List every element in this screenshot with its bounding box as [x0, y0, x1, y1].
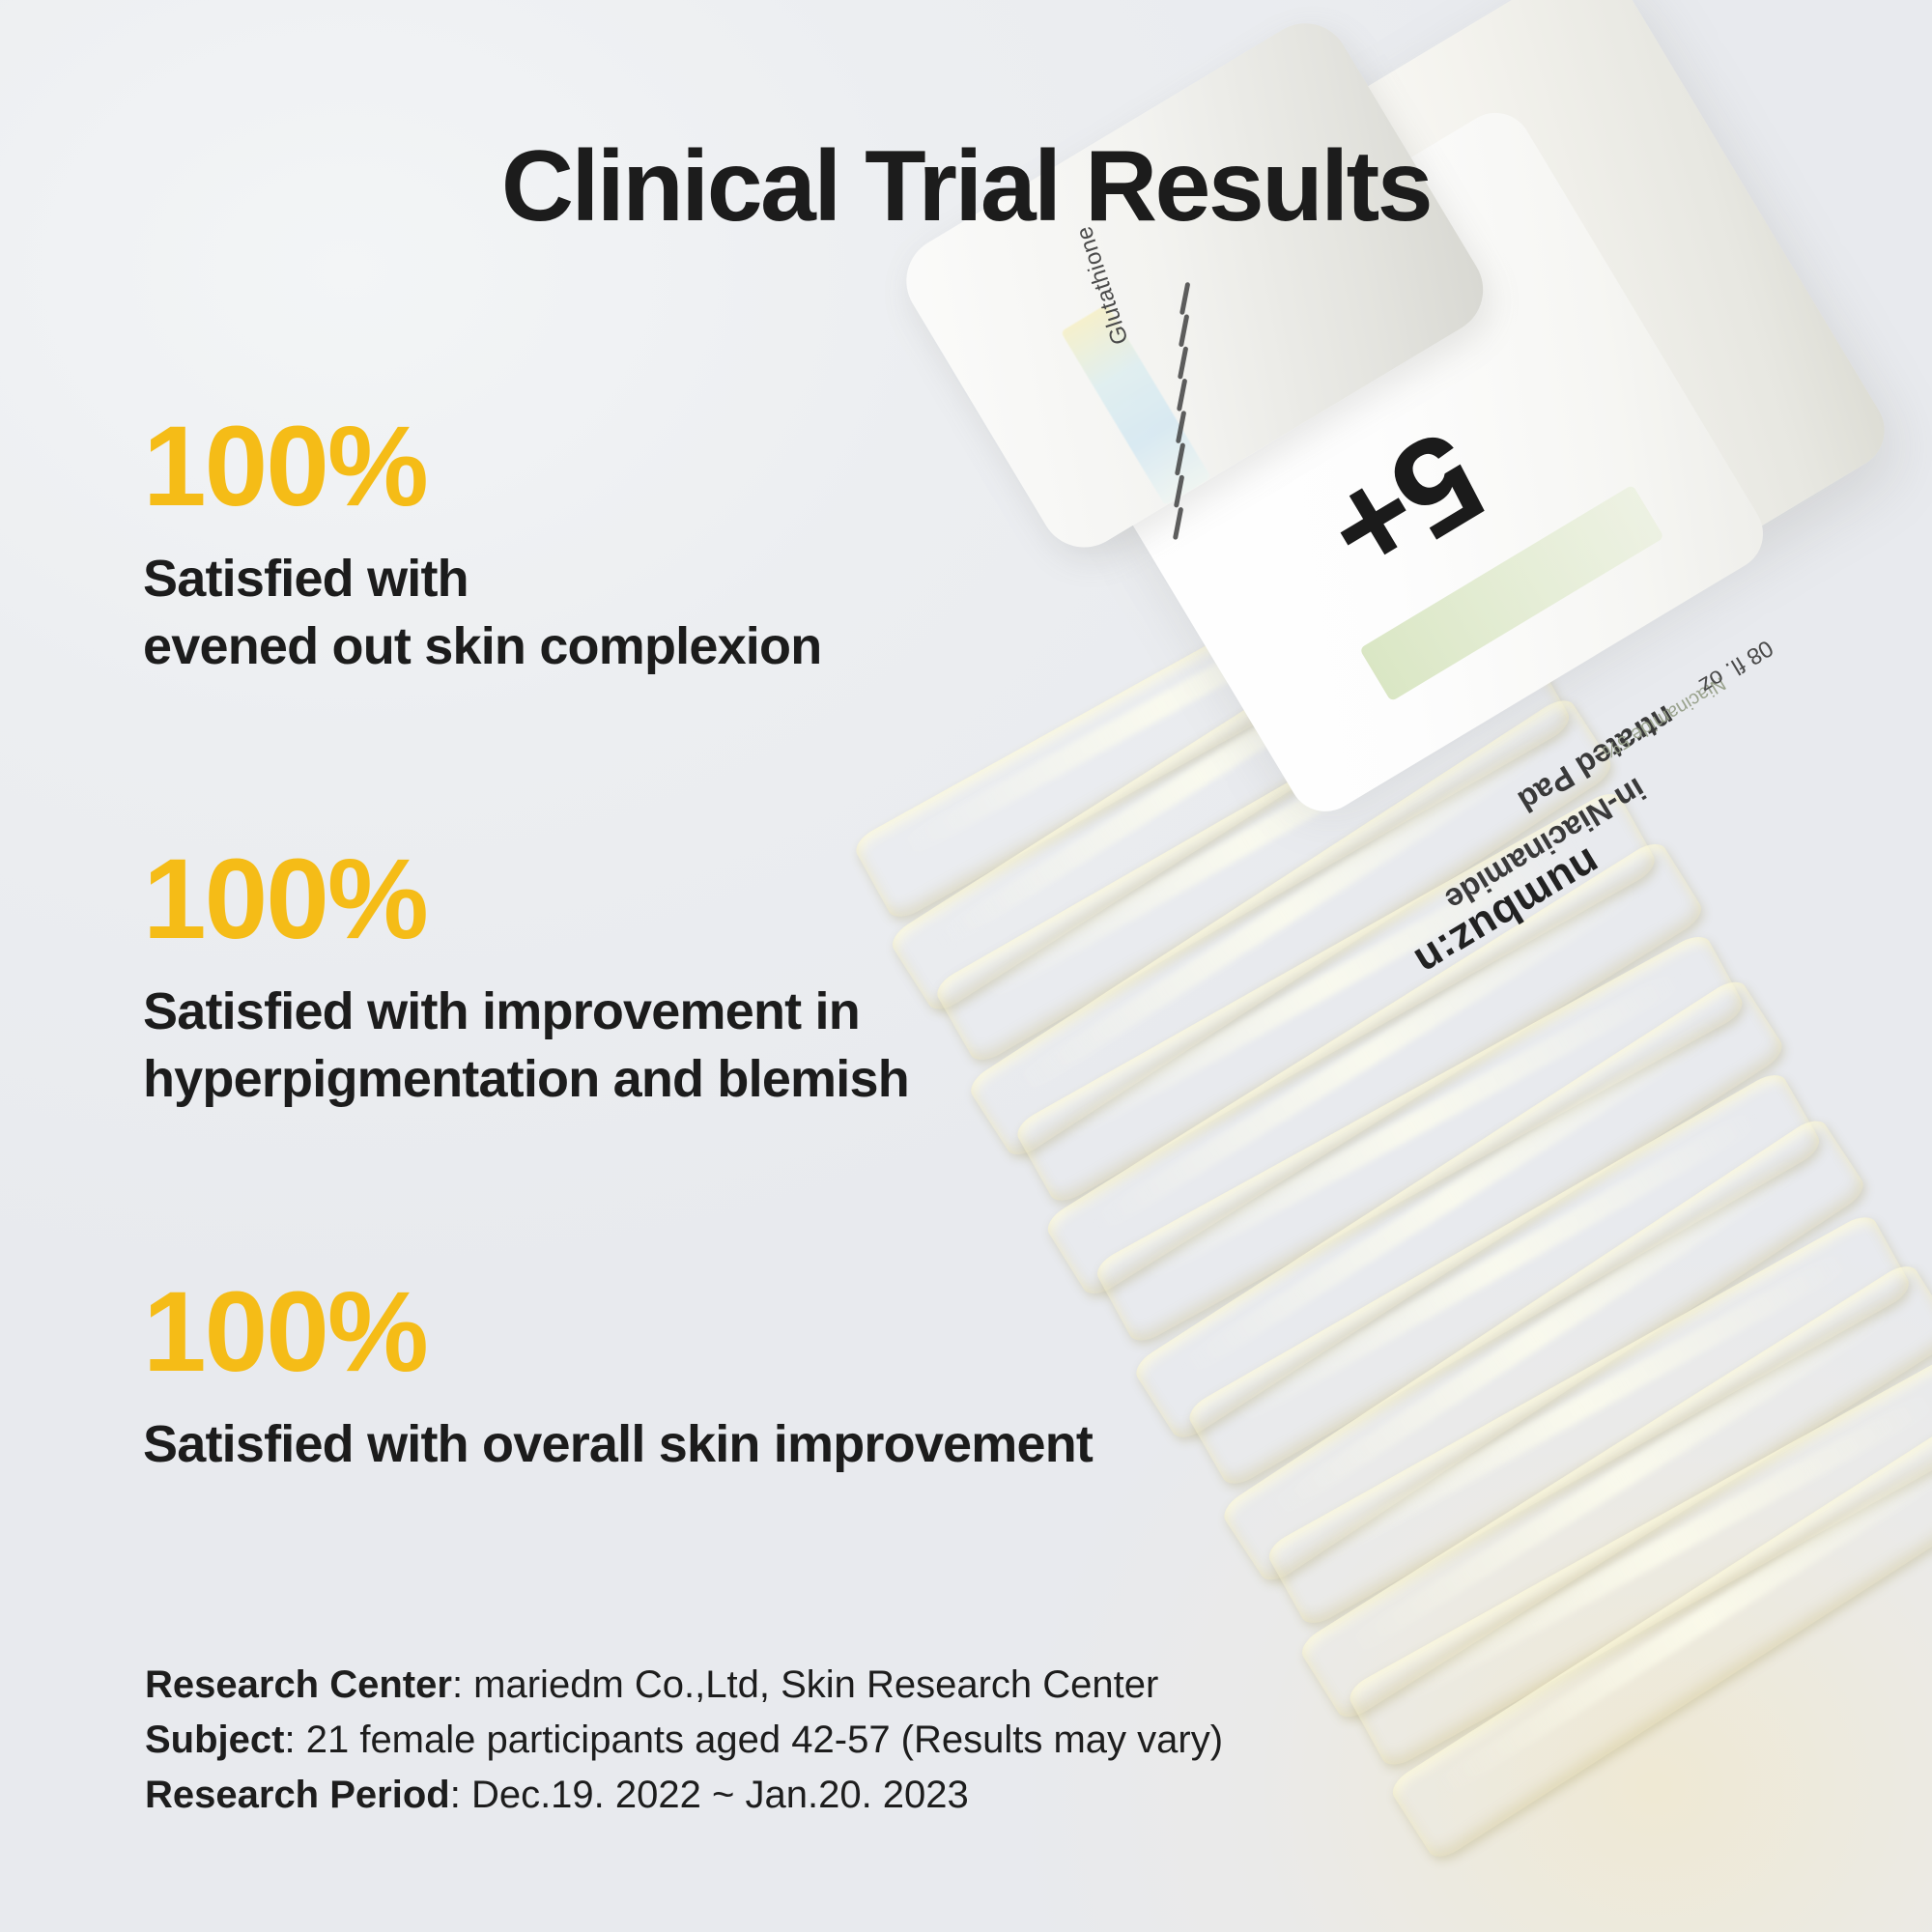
- stat-block-2: 100% Satisfied with improvement in hyper…: [143, 842, 909, 1113]
- stat-value: 100%: [143, 1275, 1093, 1389]
- stat-description-line: evened out skin complexion: [143, 612, 821, 680]
- stat-description-line: Satisfied with improvement in: [143, 978, 909, 1045]
- footnote-separator: :: [452, 1663, 473, 1706]
- footnote-label: Subject: [145, 1719, 284, 1761]
- stat-description: Satisfied with evened out skin complexio…: [143, 545, 821, 680]
- stat-description-line: Satisfied with: [143, 545, 821, 612]
- footnote-value: 21 female participants aged 42-57 (Resul…: [306, 1719, 1223, 1761]
- page-title: Clinical Trial Results: [0, 129, 1932, 244]
- footnote-line-research-period: Research Period: Dec.19. 2022 ~ Jan.20. …: [145, 1768, 1223, 1823]
- stat-description-line: hyperpigmentation and blemish: [143, 1045, 909, 1113]
- stat-block-3: 100% Satisfied with overall skin improve…: [143, 1275, 1093, 1478]
- footnote-separator: :: [284, 1719, 305, 1761]
- stat-value: 100%: [143, 842, 909, 956]
- footnote-label: Research Period: [145, 1774, 450, 1816]
- footnote-line-subject: Subject: 21 female participants aged 42-…: [145, 1713, 1223, 1768]
- footnote-value: Dec.19. 2022 ~ Jan.20. 2023: [471, 1774, 969, 1816]
- stat-value: 100%: [143, 410, 821, 524]
- footnote-line-research-center: Research Center: mariedm Co.,Ltd, Skin R…: [145, 1658, 1223, 1713]
- research-footnote: Research Center: mariedm Co.,Ltd, Skin R…: [145, 1658, 1223, 1822]
- footnote-separator: :: [450, 1774, 471, 1816]
- stat-description: Satisfied with improvement in hyperpigme…: [143, 978, 909, 1113]
- footnote-label: Research Center: [145, 1663, 452, 1706]
- footnote-value: mariedm Co.,Ltd, Skin Research Center: [473, 1663, 1158, 1706]
- stat-description-line: Satisfied with overall skin improvement: [143, 1410, 1093, 1478]
- stat-description: Satisfied with overall skin improvement: [143, 1410, 1093, 1478]
- stat-block-1: 100% Satisfied with evened out skin comp…: [143, 410, 821, 680]
